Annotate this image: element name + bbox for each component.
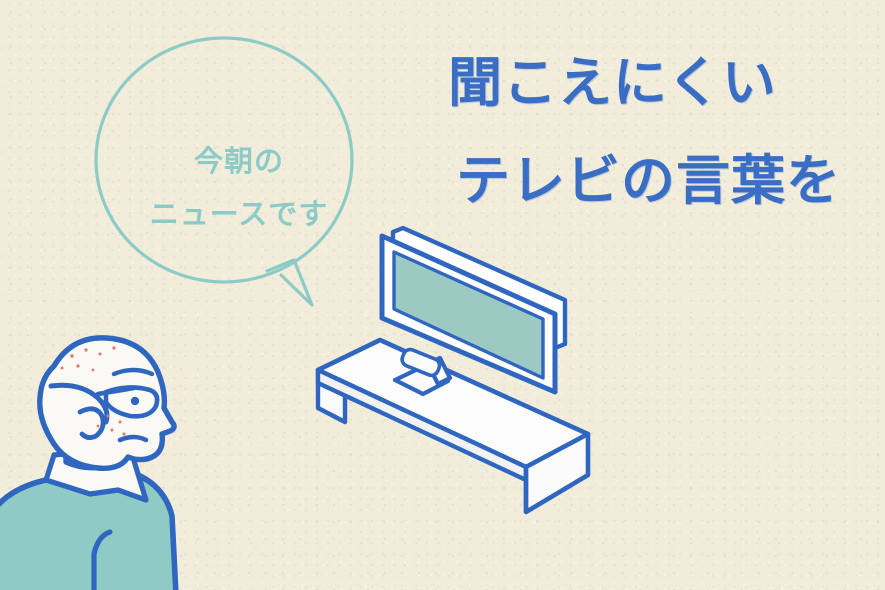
- head-profile: [40, 338, 174, 468]
- headline-line-2: テレビの言葉を: [456, 154, 870, 208]
- headline-block: 聞こえにくい テレビの言葉を: [440, 56, 870, 208]
- elderly-person-icon: [0, 330, 234, 590]
- headline-line-1: 聞こえにくい: [448, 56, 870, 110]
- bubble-text-line-2: ニュースです: [84, 191, 394, 233]
- speech-bubble-icon: 今朝の ニュースです: [84, 28, 394, 328]
- bubble-text-line-1: 今朝の: [84, 138, 394, 180]
- eye: [131, 397, 139, 405]
- illustration-canvas: 今朝の ニュースです: [0, 0, 885, 590]
- bubble-tail: [267, 260, 312, 305]
